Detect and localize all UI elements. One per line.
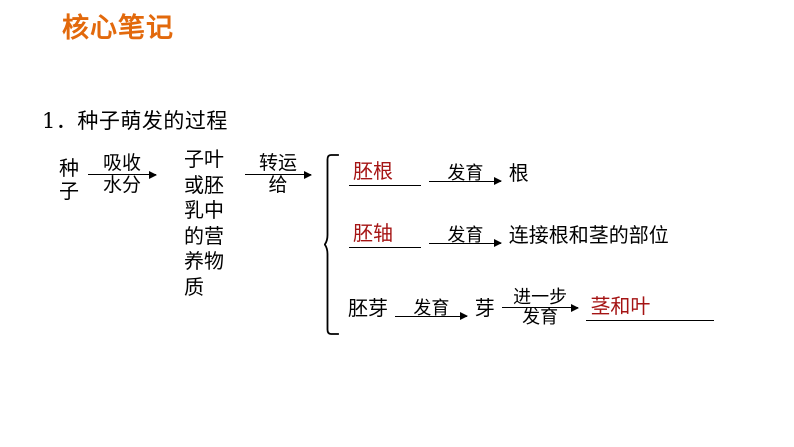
branch-row-hypocotyl: 胚轴 发育 连接根和茎的部位 — [348, 221, 669, 251]
arrow-develop-2: 发育 — [429, 226, 501, 244]
branch-row-radicle: 胚根 发育 根 — [348, 159, 529, 189]
result-bud: 芽 — [475, 296, 495, 320]
nutrient-line: 或胚 — [184, 173, 232, 199]
arrow-further-develop-label-above: 进一步 — [502, 288, 578, 307]
arrow-transport-to: 转运 给 — [245, 153, 311, 196]
arrow-develop-3: 发育 — [395, 299, 467, 317]
arrow-develop-3-line — [395, 316, 467, 317]
arrow-further-develop-line — [502, 307, 578, 308]
term-hypocotyl: 胚轴 — [353, 221, 393, 245]
branch-row-plumule: 胚芽 发育 芽 进一步 发育 茎和叶 — [348, 288, 715, 318]
answer-blank-stem-leaf[interactable]: 茎和叶 — [586, 294, 714, 321]
arrow-transport-line — [245, 174, 311, 175]
arrow-develop-1-line — [429, 181, 501, 182]
node-seed-char-2: 子 — [56, 180, 82, 203]
nutrient-line: 乳中 — [184, 198, 232, 224]
arrow-absorb-water: 吸收 水分 — [88, 153, 156, 196]
nutrient-line: 的营 — [184, 224, 232, 250]
answer-blank-radicle[interactable]: 胚根 — [349, 159, 421, 186]
grouping-brace-icon — [324, 153, 340, 336]
result-connector: 连接根和茎的部位 — [509, 223, 669, 247]
node-nutrient-source: 子叶 或胚 乳中 的营 养物 质 — [184, 147, 232, 300]
node-seed: 种 子 — [56, 157, 82, 203]
nutrient-line: 子叶 — [184, 147, 232, 173]
section-heading: 1．种子萌发的过程 — [42, 108, 228, 134]
nutrient-line: 养物 — [184, 249, 232, 275]
nutrient-line: 质 — [184, 275, 232, 301]
answer-blank-hypocotyl[interactable]: 胚轴 — [349, 221, 421, 248]
arrow-absorb-label-above: 吸收 — [88, 153, 156, 174]
arrow-further-develop-label-below: 发育 — [502, 308, 578, 327]
node-seed-char-1: 种 — [56, 157, 82, 180]
arrow-absorb-label-below: 水分 — [88, 175, 156, 196]
arrow-transport-label-below: 给 — [245, 175, 311, 196]
arrow-absorb-line — [88, 174, 156, 175]
term-stem-and-leaf: 茎和叶 — [590, 294, 650, 318]
arrow-further-develop: 进一步 发育 — [502, 288, 578, 327]
term-radicle: 胚根 — [353, 159, 393, 183]
arrow-develop-2-line — [429, 243, 501, 244]
result-root: 根 — [509, 161, 529, 185]
term-plumule: 胚芽 — [348, 296, 388, 320]
process-flow-diagram: 种 子 吸收 水分 子叶 或胚 乳中 的营 养物 质 转运 给 — [0, 145, 794, 355]
arrow-transport-label-above: 转运 — [245, 153, 311, 174]
slide-page: 核心笔记 1．种子萌发的过程 种 子 吸收 水分 子叶 或胚 乳中 的营 养物 … — [0, 0, 794, 447]
arrow-develop-1: 发育 — [429, 164, 501, 182]
slide-title: 核心笔记 — [62, 12, 174, 46]
